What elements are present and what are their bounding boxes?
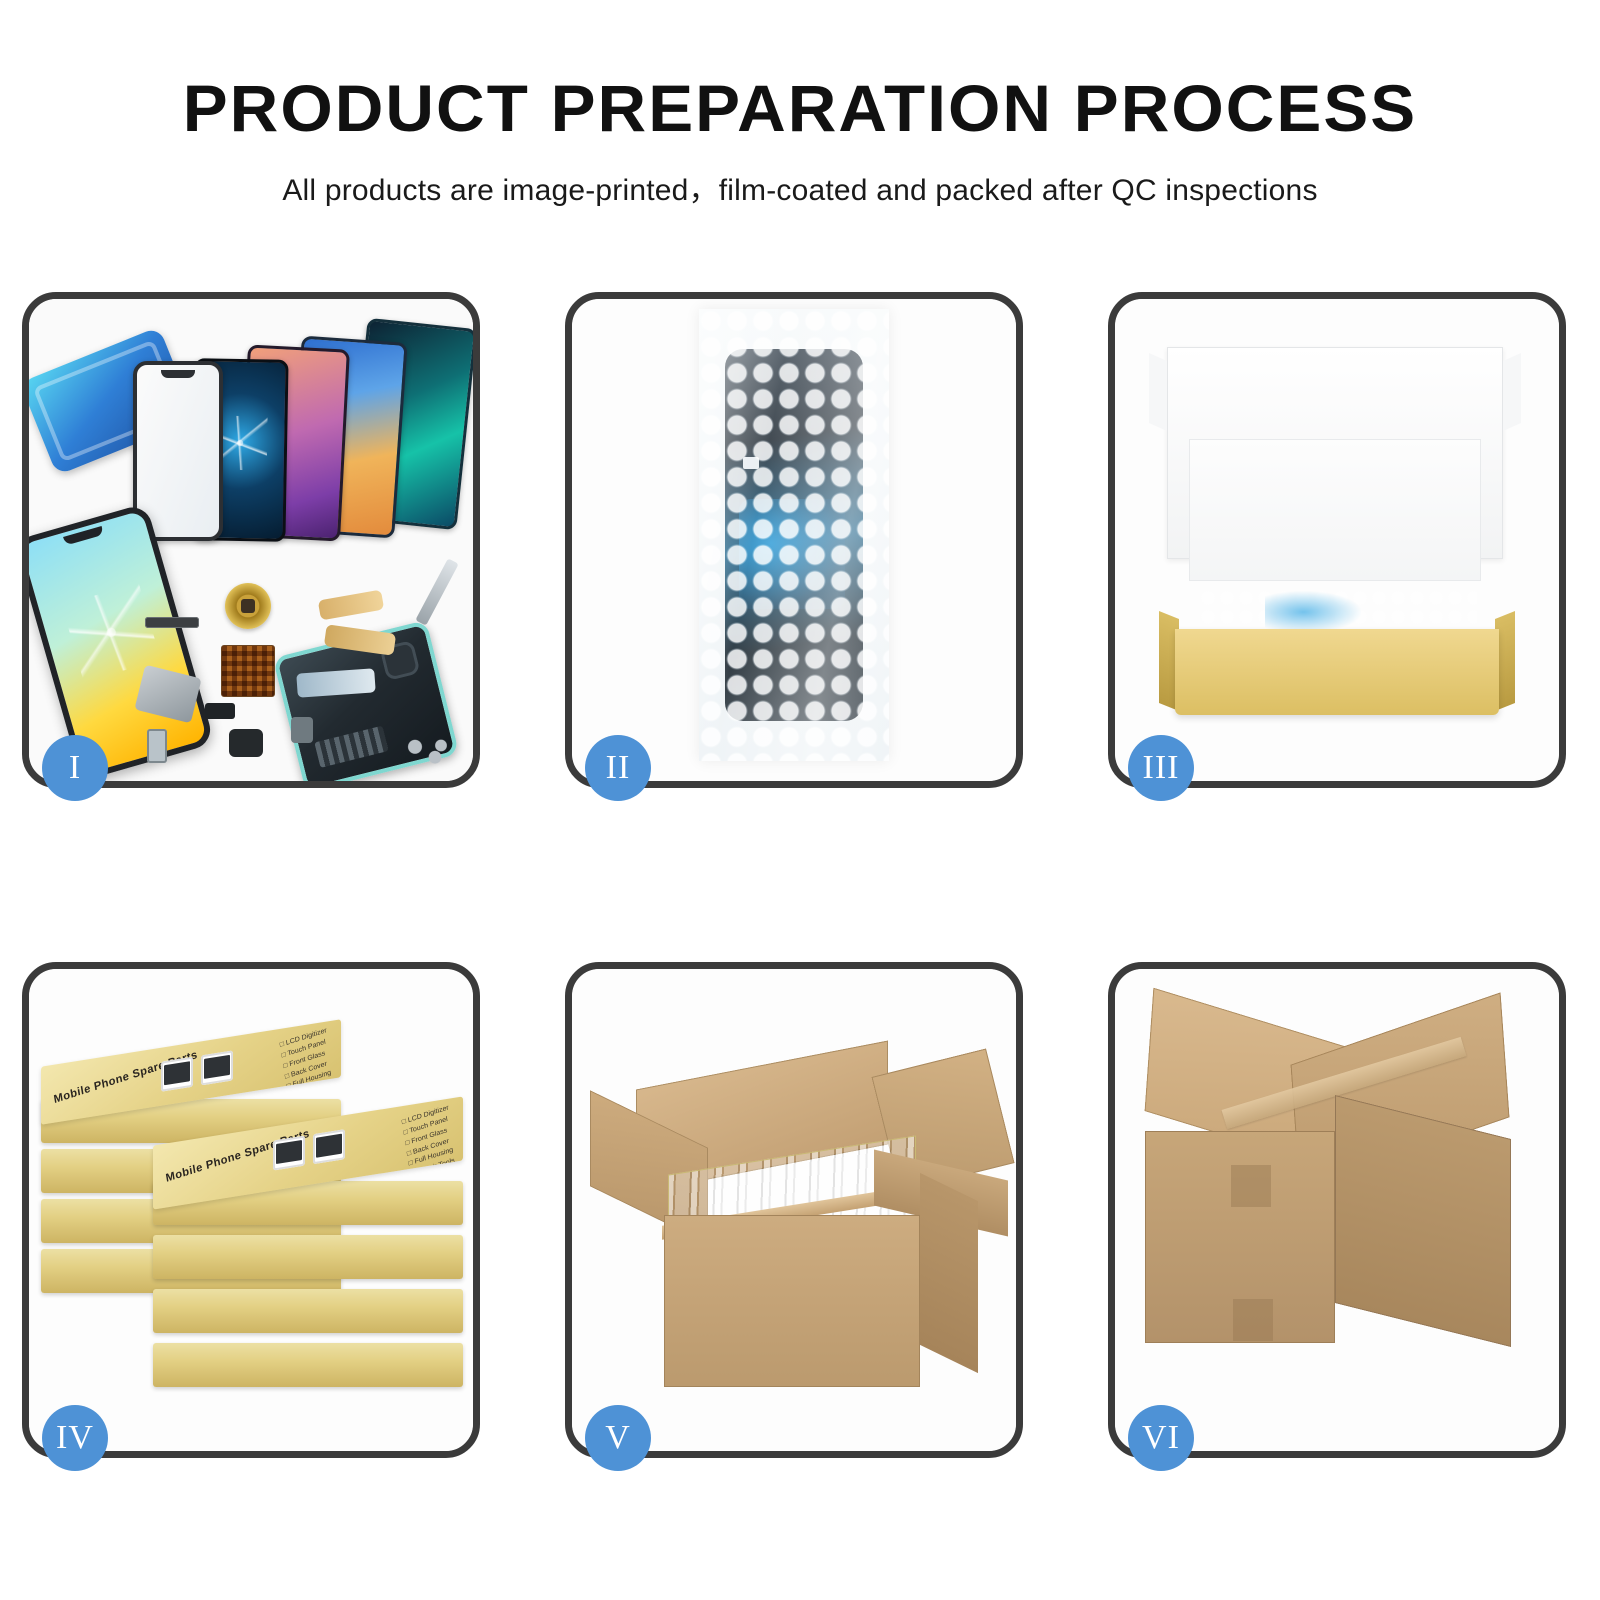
- mailer-back-wall: [1189, 439, 1481, 581]
- retail-box-stack: Mobile Phone Spare Parts LCD Digitizer T…: [37, 1003, 461, 1433]
- box-artwork-screen: [161, 1057, 193, 1092]
- box-artwork-screen: [313, 1129, 345, 1164]
- step-panel-5[interactable]: V: [565, 962, 1023, 1458]
- step-badge-5: V: [585, 1405, 651, 1471]
- blue-film-highlight: [1265, 591, 1361, 633]
- box-artwork-screen: [201, 1050, 233, 1085]
- retail-box: [153, 1289, 463, 1333]
- repair-tool-part: [415, 558, 458, 625]
- carton-side-panel: [920, 1173, 978, 1373]
- wireless-coil-part: [225, 583, 271, 629]
- header: PRODUCT PREPARATION PROCESS All products…: [0, 0, 1600, 209]
- bubble-wrap-sleeve: [699, 309, 889, 761]
- carton-front-panel: [664, 1215, 920, 1387]
- flex-cable-part: [318, 590, 385, 621]
- carton-side-panel: [1335, 1095, 1511, 1347]
- product-preparation-infographic: PRODUCT PREPARATION PROCESS All products…: [0, 0, 1600, 1600]
- ic-chip-part: [221, 645, 275, 697]
- step-5-image: [572, 969, 1016, 1451]
- step-badge-2: II: [585, 735, 651, 801]
- carton-tab: [1231, 1165, 1271, 1207]
- step-badge-3: III: [1128, 735, 1194, 801]
- step-6-image: [1115, 969, 1559, 1451]
- retail-box: [153, 1235, 463, 1279]
- carton-tab: [1233, 1299, 1273, 1341]
- steps-grid: I II: [0, 0, 1600, 1600]
- sim-tray-part: [147, 729, 167, 763]
- step-2-image: [572, 299, 1016, 781]
- step-badge-4: IV: [42, 1405, 108, 1471]
- earpiece-part: [205, 703, 235, 719]
- camera-module-part: [229, 729, 263, 757]
- step-3-image: [1115, 299, 1559, 781]
- plastic-sheen: [699, 309, 889, 761]
- step-1-image: [29, 299, 473, 781]
- retail-box-checklist: LCD Digitizer Touch Panel Front Glass Ba…: [401, 1104, 458, 1181]
- phone-parts-collage-art: [29, 299, 473, 781]
- step-panel-2[interactable]: II: [565, 292, 1023, 788]
- box-artwork-screen: [273, 1135, 305, 1170]
- step-panel-3[interactable]: III: [1108, 292, 1566, 788]
- speaker-mesh-part: [145, 617, 199, 628]
- step-panel-1[interactable]: I: [22, 292, 480, 788]
- page-subtitle: All products are image-printed，film-coat…: [0, 165, 1600, 209]
- mailer-front-wall: [1175, 629, 1499, 715]
- step-badge-6: VI: [1128, 1405, 1194, 1471]
- step-panel-6[interactable]: VI: [1108, 962, 1566, 1458]
- screws-part: [407, 739, 447, 765]
- camera-module-part: [291, 717, 313, 743]
- step-panel-4[interactable]: Mobile Phone Spare Parts LCD Digitizer T…: [22, 962, 480, 1458]
- retail-box: [153, 1343, 463, 1387]
- retail-box-checklist: LCD Digitizer Touch Panel Front Glass Ba…: [279, 1026, 336, 1103]
- step-4-image: Mobile Phone Spare Parts LCD Digitizer T…: [29, 969, 473, 1451]
- step-badge-1: I: [42, 735, 108, 801]
- page-title: PRODUCT PREPARATION PROCESS: [0, 74, 1600, 143]
